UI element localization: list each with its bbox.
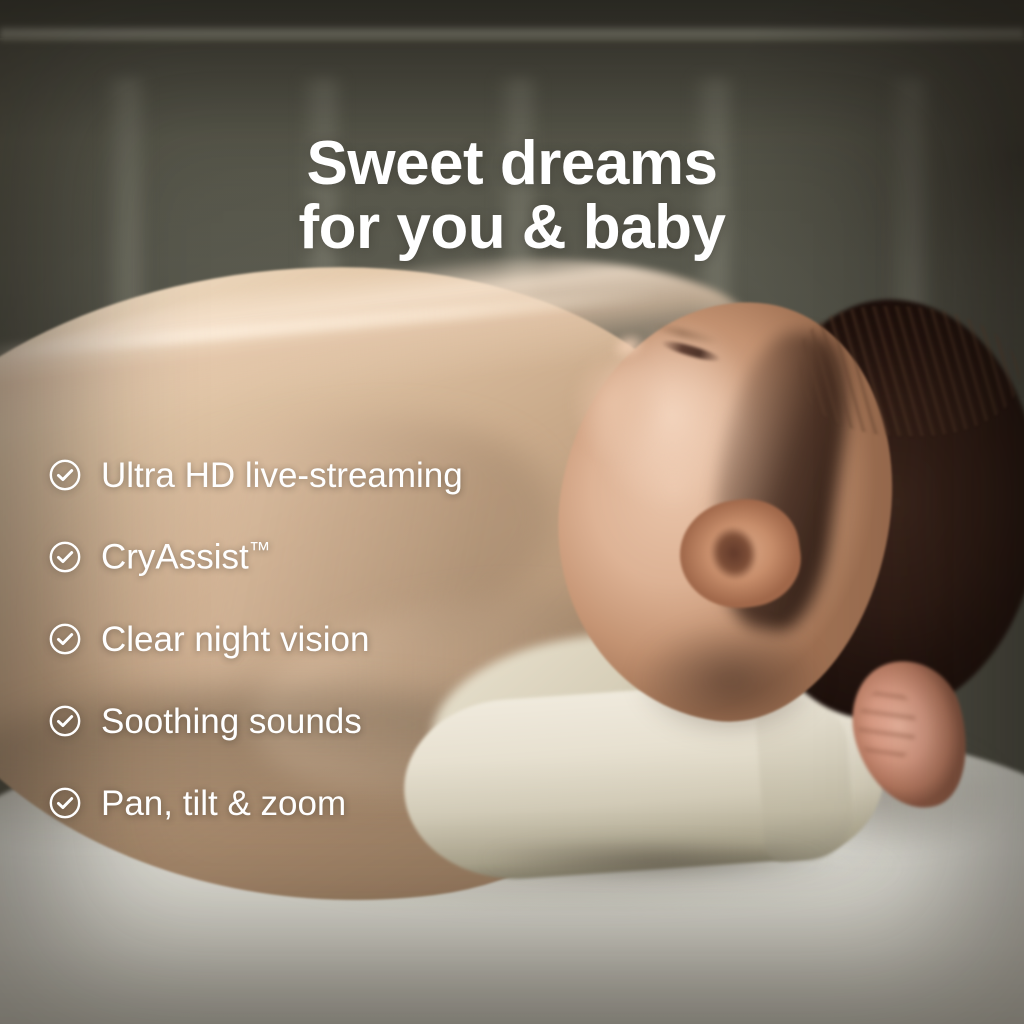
list-item: CryAssist™ xyxy=(48,534,463,580)
headline-line-2: for you & baby xyxy=(0,196,1024,260)
feature-label: Soothing sounds xyxy=(101,704,362,739)
feature-label: Ultra HD live-streaming xyxy=(101,458,463,493)
check-circle-icon xyxy=(48,540,82,574)
text-overlay: Sweet dreams for you & baby Ultra HD liv… xyxy=(0,0,1024,1024)
feature-list: Ultra HD live-streaming CryAssist™ Clear… xyxy=(48,452,463,826)
feature-label: CryAssist™ xyxy=(101,539,271,574)
feature-text: Pan, tilt & zoom xyxy=(101,784,346,823)
list-item: Ultra HD live-streaming xyxy=(48,452,463,498)
feature-label: Pan, tilt & zoom xyxy=(101,786,346,821)
check-circle-icon xyxy=(48,786,82,820)
feature-text: CryAssist xyxy=(101,538,249,577)
check-circle-icon xyxy=(48,458,82,492)
list-item: Pan, tilt & zoom xyxy=(48,780,463,826)
trademark-symbol: ™ xyxy=(249,537,271,562)
product-ad-image: Sweet dreams for you & baby Ultra HD liv… xyxy=(0,0,1024,1024)
list-item: Soothing sounds xyxy=(48,698,463,744)
feature-text: Ultra HD live-streaming xyxy=(101,456,463,495)
headline-line-1: Sweet dreams xyxy=(0,132,1024,196)
check-circle-icon xyxy=(48,622,82,656)
feature-text: Soothing sounds xyxy=(101,702,362,741)
check-circle-icon xyxy=(48,704,82,738)
headline: Sweet dreams for you & baby xyxy=(0,132,1024,260)
feature-text: Clear night vision xyxy=(101,620,369,659)
list-item: Clear night vision xyxy=(48,616,463,662)
feature-label: Clear night vision xyxy=(101,622,369,657)
